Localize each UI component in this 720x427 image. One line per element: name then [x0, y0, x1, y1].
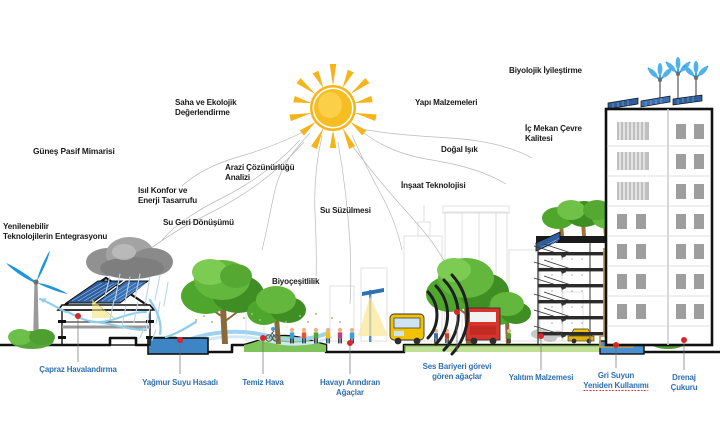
- label-renewable-tech-integration: Yenilenebilir Teknolojilerin Entegrasyon…: [3, 222, 107, 242]
- label-rainwater-harvest: Yağmur Suyu Hasadı: [142, 378, 218, 388]
- label-cross-ventilation: Çapraz Havalandırma: [39, 365, 116, 375]
- label-site-ecological-assessment: Saha ve Ekolojik Değerlendirme: [175, 98, 236, 118]
- label-thermal-comfort-energy: Isıl Konfor ve Enerji Tasarrufu: [138, 186, 197, 206]
- label-solar-passive-architecture: Güneş Pasif Mimarisi: [33, 146, 115, 156]
- infographic-canvas: Güneş Pasif MimarisiSaha ve Ekolojik Değ…: [0, 0, 720, 427]
- label-construction-technology: İnşaat Teknolojisi: [401, 181, 466, 191]
- label-water-recycling: Su Geri Dönüşümü: [163, 218, 234, 228]
- label-biodiversity: Biyoçeşitlilik: [272, 277, 319, 287]
- label-insulation-material: Yalıtım Malzemesi: [509, 373, 574, 383]
- label-noise-barrier-trees: Ses Bariyeri görevi gören ağaçlar: [423, 362, 492, 381]
- label-land-resolution-analysis: Arazi Çözünürlüğü Analizi: [225, 163, 294, 183]
- label-bioremediation: Biyolojik İyileştirme: [509, 66, 582, 76]
- label-water-filtration: Su Süzülmesi: [320, 206, 371, 216]
- label-air-purifying-trees: Havayı Arındıran Ağaçlar: [320, 378, 380, 397]
- label-indoor-environment-quality: İç Mekan Çevre Kalitesi: [525, 124, 582, 144]
- hotspot-markers: [75, 309, 687, 348]
- label-greywater-reuse: Gri Suyun Yeniden Kullanımı: [583, 371, 648, 391]
- label-clean-air: Temiz Hava: [242, 378, 283, 388]
- label-drainage-pit: Drenaj Çukuru: [666, 373, 702, 392]
- label-building-materials: Yapı Malzemeleri: [415, 98, 477, 108]
- label-natural-light: Doğal Işık: [441, 145, 478, 155]
